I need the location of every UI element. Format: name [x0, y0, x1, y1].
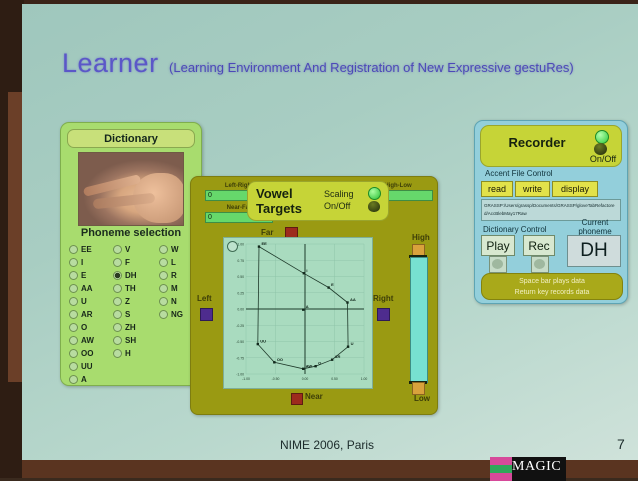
- phoneme-option-label: W: [171, 245, 179, 254]
- radio-icon[interactable]: [159, 284, 168, 293]
- logo-bar: [490, 465, 512, 473]
- phoneme-option-s[interactable]: S: [113, 308, 157, 321]
- slide-footer: NIME 2006, Paris: [280, 438, 374, 452]
- y-tick-label: -0.75: [236, 356, 244, 360]
- x-tick-label: 0.00: [302, 377, 309, 381]
- phoneme-option-label: AW: [81, 336, 94, 345]
- phoneme-option-oo[interactable]: OO: [69, 347, 113, 360]
- radio-icon[interactable]: [69, 336, 78, 345]
- slider-high-label: High: [412, 233, 430, 242]
- radio-icon[interactable]: [69, 323, 78, 332]
- slide-surface: Learner (Learning Environment And Regist…: [22, 4, 638, 460]
- recorder-led-indicator: [595, 130, 609, 144]
- right-label: Right: [373, 294, 393, 303]
- scaling-toggle-knob[interactable]: [368, 201, 380, 212]
- phoneme-option-label: AA: [81, 284, 93, 293]
- phoneme-option-z[interactable]: Z: [113, 295, 157, 308]
- phoneme-option-label: AR: [81, 310, 93, 319]
- radio-icon[interactable]: [113, 245, 122, 254]
- radio-icon[interactable]: [69, 375, 78, 384]
- phoneme-option-label: EE: [81, 245, 92, 254]
- scaling-label-line2: On/Off: [324, 200, 368, 212]
- phoneme-option-label: V: [125, 245, 130, 254]
- data-point[interactable]: [302, 368, 304, 370]
- recorder-panel: Recorder On/Off Accent File Control read…: [474, 120, 628, 304]
- magic-logo-text: MAGIC: [512, 459, 566, 475]
- phoneme-option-label: L: [171, 258, 176, 267]
- phoneme-option-label: DH: [125, 271, 137, 280]
- y-tick-label: 1.00: [237, 243, 244, 247]
- phoneme-option-label: S: [125, 310, 130, 319]
- vowel-targets-header: Vowel Targets Scaling On/Off: [247, 181, 389, 221]
- data-point-label: O: [318, 361, 321, 366]
- projector-screen: Learner (Learning Environment And Regist…: [0, 0, 638, 478]
- y-tick-label: -1.00: [236, 373, 244, 377]
- radio-icon[interactable]: [69, 271, 78, 280]
- magic-logo: MAGIC: [490, 457, 566, 481]
- data-point-label: UU: [260, 339, 266, 344]
- x-tick-label: 1.00: [361, 377, 368, 381]
- hand-gesture-image: [78, 152, 184, 226]
- phoneme-option-f[interactable]: F: [113, 256, 157, 269]
- right-color-swatch[interactable]: [377, 308, 390, 321]
- dictionary-control-label: Dictionary Control: [483, 225, 547, 234]
- data-point[interactable]: [331, 359, 333, 361]
- data-point-label: OO: [277, 357, 283, 362]
- phoneme-selection-label: Phoneme selection: [61, 227, 201, 239]
- phoneme-option-label: SH: [125, 336, 136, 345]
- recorder-onoff-label: On/Off: [583, 154, 623, 164]
- data-point-label: E: [331, 282, 334, 287]
- phoneme-option-sh[interactable]: SH: [113, 334, 157, 347]
- data-point-label: AA: [350, 297, 356, 302]
- x-tick-label: -1.00: [242, 377, 250, 381]
- hint-line-2: Return key records data: [515, 287, 590, 298]
- page-title: Learner (Learning Environment And Regist…: [62, 48, 574, 79]
- left-color-swatch[interactable]: [200, 308, 213, 321]
- y-tick-label: 0.50: [237, 275, 244, 279]
- left-label: Left: [197, 294, 212, 303]
- phoneme-option-label: I: [81, 258, 83, 267]
- data-point[interactable]: [347, 346, 349, 348]
- phoneme-option-a[interactable]: A: [69, 373, 113, 386]
- phoneme-option-label: UU: [81, 362, 93, 371]
- y-tick-label: 0.25: [237, 291, 244, 295]
- phoneme-option-v[interactable]: V: [113, 243, 157, 256]
- current-phoneme-label: Current phoneme: [567, 218, 623, 236]
- data-point[interactable]: [258, 245, 260, 247]
- data-point-label: I: [306, 268, 307, 273]
- phoneme-option-label: E: [81, 271, 86, 280]
- radio-icon[interactable]: [159, 297, 168, 306]
- phoneme-option-label: M: [171, 284, 178, 293]
- far-label: Far: [261, 228, 273, 237]
- recorder-header: Recorder On/Off: [480, 125, 622, 167]
- data-point-label: A: [306, 304, 309, 309]
- radio-icon[interactable]: [69, 310, 78, 319]
- data-point-label: EE: [261, 241, 267, 246]
- near-label: Near: [305, 392, 323, 401]
- radio-icon[interactable]: [159, 245, 168, 254]
- data-point[interactable]: [257, 343, 259, 345]
- radio-icon[interactable]: [113, 349, 122, 358]
- recorder-title: Recorder: [481, 135, 593, 150]
- data-point[interactable]: [303, 272, 305, 274]
- data-point[interactable]: [314, 365, 316, 367]
- current-phoneme-label-line1: Current: [567, 218, 623, 227]
- radio-icon[interactable]: [69, 349, 78, 358]
- vowel-plot-canvas: 1.000.750.500.250.00-0.25-0.50-0.75-1.00…: [224, 238, 372, 388]
- radio-icon[interactable]: [159, 258, 168, 267]
- slider-low-label: Low: [414, 394, 430, 403]
- phoneme-option-label: R: [171, 271, 177, 280]
- dictionary-panel: Dictionary Phoneme selection EEIEAAUAROA…: [60, 122, 202, 386]
- logo-bar: [490, 457, 512, 465]
- radio-icon[interactable]: [69, 258, 78, 267]
- phoneme-option-label: ZH: [125, 323, 136, 332]
- title-main: Learner: [62, 48, 159, 79]
- phoneme-option-th[interactable]: TH: [113, 282, 157, 295]
- magic-logo-bars: [490, 457, 512, 481]
- vowel-targets-title: Vowel Targets: [256, 186, 322, 216]
- phoneme-option-label: NG: [171, 310, 183, 319]
- data-point-label: AW: [306, 363, 313, 368]
- x-tick-label: -0.50: [272, 377, 280, 381]
- phoneme-option-label: O: [81, 323, 87, 332]
- read-button[interactable]: read: [481, 181, 513, 197]
- phoneme-option-label: F: [125, 258, 130, 267]
- radio-icon[interactable]: [113, 284, 122, 293]
- data-point[interactable]: [346, 301, 348, 303]
- radio-icon[interactable]: [113, 271, 122, 280]
- y-tick-label: -0.25: [236, 324, 244, 328]
- phoneme-option-o[interactable]: O: [69, 321, 113, 334]
- radio-icon[interactable]: [159, 271, 168, 280]
- data-point[interactable]: [302, 308, 304, 310]
- radio-icon[interactable]: [113, 297, 122, 306]
- vowel-targets-title-line1: Vowel: [256, 186, 322, 201]
- data-point[interactable]: [327, 286, 329, 288]
- phoneme-option-label: A: [81, 375, 87, 384]
- radio-icon[interactable]: [69, 245, 78, 254]
- phoneme-column-2: VFDHTHZSZHSHH: [113, 243, 157, 360]
- radio-icon[interactable]: [69, 297, 78, 306]
- near-color-swatch[interactable]: [291, 393, 303, 405]
- scaling-onoff-label: Scaling On/Off: [324, 188, 368, 212]
- high-low-slider-track[interactable]: [410, 257, 428, 383]
- phoneme-option-u[interactable]: U: [69, 295, 113, 308]
- phoneme-option-label: N: [171, 297, 177, 306]
- write-button[interactable]: write: [515, 181, 550, 197]
- play-indicator: [489, 256, 507, 273]
- phoneme-option-label: OO: [81, 349, 93, 358]
- vowel-plot[interactable]: 1.000.750.500.250.00-0.25-0.50-0.75-1.00…: [223, 237, 373, 389]
- radio-icon[interactable]: [113, 323, 122, 332]
- x-tick-label: 0.50: [331, 377, 338, 381]
- accent-file-control-label: Accent File Control: [485, 169, 553, 178]
- rec-button[interactable]: Rec: [523, 235, 555, 256]
- phoneme-option-ar[interactable]: AR: [69, 308, 113, 321]
- scaling-led-indicator: [368, 187, 381, 200]
- phoneme-option-uu[interactable]: UU: [69, 360, 113, 373]
- title-subtitle: (Learning Environment And Registration o…: [169, 60, 574, 75]
- y-tick-label: 0.75: [237, 259, 244, 263]
- phoneme-option-ee[interactable]: EE: [69, 243, 113, 256]
- dictionary-title: Dictionary: [67, 129, 195, 148]
- data-point-label: U: [351, 341, 354, 346]
- phoneme-option-label: U: [81, 297, 87, 306]
- phoneme-option-h[interactable]: H: [113, 347, 157, 360]
- rec-indicator: [531, 256, 549, 273]
- phoneme-option-dh[interactable]: DH: [113, 269, 157, 282]
- play-button[interactable]: Play: [481, 235, 515, 256]
- phoneme-column-1: EEIEAAUAROAWOOUUA: [69, 243, 113, 386]
- phoneme-option-aw[interactable]: AW: [69, 334, 113, 347]
- phoneme-option-e[interactable]: E: [69, 269, 113, 282]
- current-phoneme-display: DH: [567, 235, 621, 267]
- data-point-label: AR: [335, 354, 341, 359]
- play-indicator-led: [492, 259, 503, 269]
- phoneme-radio-group: EEIEAAUAROAWOOUUA VFDHTHZSZHSHH WLRMNNG: [69, 243, 201, 378]
- hint-line-1: Space bar plays data: [519, 276, 585, 287]
- vowel-targets-panel: Left-Right 0 Near-Far 0 High-Low 0 Vowel…: [190, 176, 438, 415]
- phoneme-option-i[interactable]: I: [69, 256, 113, 269]
- room-edge-left-inner: [8, 92, 22, 382]
- phoneme-option-zh[interactable]: ZH: [113, 321, 157, 334]
- radio-icon[interactable]: [113, 336, 122, 345]
- y-tick-label: -0.50: [236, 340, 244, 344]
- phoneme-option-label: H: [125, 349, 131, 358]
- page-number: 7: [617, 436, 625, 452]
- data-point[interactable]: [273, 361, 275, 363]
- display-button[interactable]: display: [552, 181, 598, 197]
- radio-icon[interactable]: [113, 258, 122, 267]
- rec-indicator-led: [534, 259, 545, 269]
- vowel-targets-title-line2: Targets: [256, 201, 322, 216]
- y-tick-label: 0.00: [237, 308, 244, 312]
- radio-icon[interactable]: [113, 310, 122, 319]
- scaling-label-line1: Scaling: [324, 188, 368, 200]
- radio-icon[interactable]: [69, 362, 78, 371]
- phoneme-option-aa[interactable]: AA: [69, 282, 113, 295]
- logo-bar: [490, 473, 512, 481]
- radio-icon[interactable]: [69, 284, 78, 293]
- radio-icon[interactable]: [159, 310, 168, 319]
- phoneme-option-label: Z: [125, 297, 130, 306]
- keyboard-hint-box: Space bar plays data Return key records …: [481, 273, 623, 300]
- phoneme-option-label: TH: [125, 284, 136, 293]
